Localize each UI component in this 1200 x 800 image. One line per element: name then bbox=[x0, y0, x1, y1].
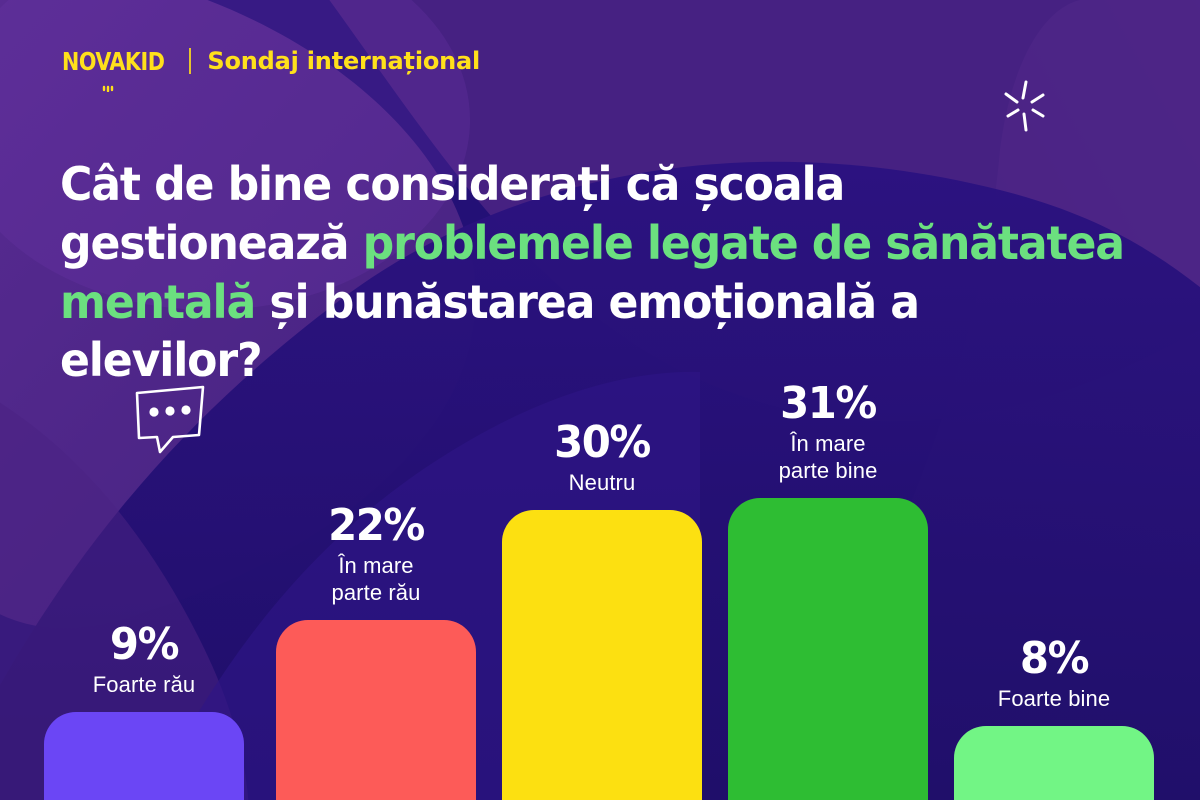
speech-bubble-icon bbox=[133, 385, 209, 460]
bar-group: 30%Neutru bbox=[502, 510, 702, 800]
bar-label-block: 9%Foarte rău bbox=[44, 623, 244, 712]
bar-value-label: 30% bbox=[507, 421, 697, 466]
bar-label-block: 31%În mare parte bine bbox=[728, 382, 928, 498]
bar-category-label: În mare parte rău bbox=[276, 553, 476, 606]
bar-rect[interactable] bbox=[44, 712, 244, 800]
bar-value-label: 8% bbox=[959, 637, 1149, 682]
bar-category-label: Neutru bbox=[502, 470, 702, 496]
bar-group: 22%În mare parte rău bbox=[276, 620, 476, 800]
bar-value-label: 22% bbox=[281, 504, 471, 549]
bar-group: 9%Foarte rău bbox=[44, 712, 244, 800]
bar-group: 8%Foarte bine bbox=[954, 726, 1154, 800]
bar-category-label: În mare parte bine bbox=[728, 431, 928, 484]
header: NOVAKID Sondaj internațional bbox=[62, 48, 480, 74]
bar-group: 31%În mare parte bine bbox=[728, 498, 928, 800]
bar-category-label: Foarte rău bbox=[44, 672, 244, 698]
header-divider bbox=[189, 48, 191, 74]
sparkle-icon bbox=[1002, 80, 1048, 137]
bar-value-label: 9% bbox=[49, 623, 239, 668]
bar-label-block: 8%Foarte bine bbox=[954, 637, 1154, 726]
page-title: Cât de bine considerați că școala gestio… bbox=[60, 155, 1126, 391]
infographic-canvas: NOVAKID Sondaj internațional Cât de bine… bbox=[0, 0, 1200, 800]
bar-label-block: 22%În mare parte rău bbox=[276, 504, 476, 620]
novakid-logo[interactable]: NOVAKID bbox=[62, 49, 173, 74]
bar-rect[interactable] bbox=[502, 510, 702, 800]
bar-rect[interactable] bbox=[728, 498, 928, 800]
header-subtitle: Sondaj internațional bbox=[207, 49, 480, 73]
logo-wordmark: NOVAKID bbox=[62, 49, 164, 74]
bar-rect[interactable] bbox=[954, 726, 1154, 800]
bar-category-label: Foarte bine bbox=[954, 686, 1154, 712]
bar-rect[interactable] bbox=[276, 620, 476, 800]
bar-label-block: 30%Neutru bbox=[502, 421, 702, 510]
